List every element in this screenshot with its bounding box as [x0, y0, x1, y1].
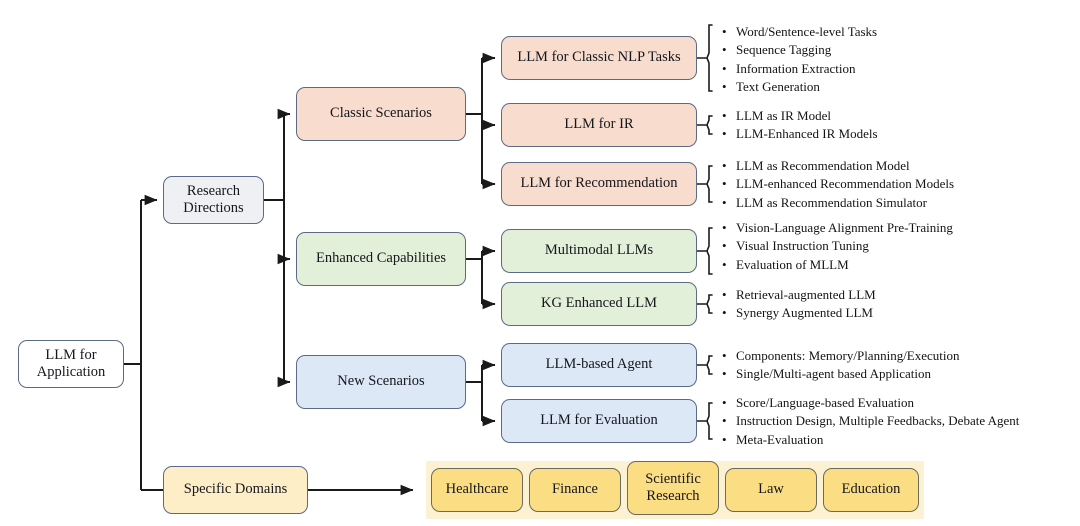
kg-label: KG Enhanced LLM — [541, 295, 657, 312]
bullet-dot-icon: • — [722, 125, 736, 143]
node-research-directions[interactable]: Research Directions — [163, 176, 264, 224]
bullet-dot-icon: • — [722, 41, 736, 59]
list-item: •Sequence Tagging — [722, 41, 877, 59]
research-directions-line1: Research — [187, 183, 240, 199]
multimodal-label: Multimodal LLMs — [545, 242, 653, 259]
list-item: •Meta-Evaluation — [722, 431, 1019, 449]
domain-scientific-research[interactable]: Scientific Research — [627, 461, 719, 515]
enhanced-capabilities-label: Enhanced Capabilities — [316, 250, 446, 267]
bullets-llm-based-agent: •Components: Memory/Planning/Execution •… — [722, 347, 960, 384]
list-item: •Text Generation — [722, 78, 877, 96]
domain-scientific-research-line1: Scientific — [645, 471, 701, 487]
node-llm-for-evaluation[interactable]: LLM for Evaluation — [501, 399, 697, 443]
agent-label: LLM-based Agent — [546, 356, 653, 373]
bullet-dot-icon: • — [722, 304, 736, 322]
node-enhanced-capabilities[interactable]: Enhanced Capabilities — [296, 232, 466, 286]
bullet-dot-icon: • — [722, 194, 736, 212]
bullet-dot-icon: • — [722, 286, 736, 304]
new-scenarios-label: New Scenarios — [337, 373, 424, 390]
bullet-dot-icon: • — [722, 412, 736, 430]
list-item: •LLM-enhanced Recommendation Models — [722, 175, 954, 193]
list-item: •Single/Multi-agent based Application — [722, 365, 960, 383]
bullet-dot-icon: • — [722, 256, 736, 274]
node-kg-enhanced-llm[interactable]: KG Enhanced LLM — [501, 282, 697, 326]
bullets-llm-for-evaluation: •Score/Language-based Evaluation •Instru… — [722, 394, 1019, 449]
domain-healthcare[interactable]: Healthcare — [431, 468, 523, 512]
domain-finance[interactable]: Finance — [529, 468, 621, 512]
bullets-multimodal-llms: •Vision-Language Alignment Pre-Training … — [722, 219, 953, 274]
list-item: •Retrieval-augmented LLM — [722, 286, 876, 304]
bracket-kg — [697, 295, 712, 313]
domain-scientific-research-line2: Research — [646, 488, 699, 504]
bracket-ir — [697, 116, 712, 134]
bullet-dot-icon: • — [722, 175, 736, 193]
bracket-agent — [697, 356, 712, 374]
list-item: •LLM as Recommendation Simulator — [722, 194, 954, 212]
list-item: •Word/Sentence-level Tasks — [722, 23, 877, 41]
bullet-dot-icon: • — [722, 107, 736, 125]
node-llm-for-ir[interactable]: LLM for IR — [501, 103, 697, 147]
bullet-dot-icon: • — [722, 347, 736, 365]
node-new-scenarios[interactable]: New Scenarios — [296, 355, 466, 409]
list-item: •Components: Memory/Planning/Execution — [722, 347, 960, 365]
node-specific-domains[interactable]: Specific Domains — [163, 466, 308, 514]
list-item: •Information Extraction — [722, 60, 877, 78]
classic-scenarios-label: Classic Scenarios — [330, 105, 432, 122]
node-llm-for-application[interactable]: LLM for Application — [18, 340, 124, 388]
bullet-dot-icon: • — [722, 60, 736, 78]
node-llm-for-classic-nlp-tasks[interactable]: LLM for Classic NLP Tasks — [501, 36, 697, 80]
bullet-dot-icon: • — [722, 431, 736, 449]
root-label-line2: Application — [37, 364, 105, 380]
node-llm-based-agent[interactable]: LLM-based Agent — [501, 343, 697, 387]
llm-nlp-label: LLM for Classic NLP Tasks — [517, 49, 680, 66]
node-classic-scenarios[interactable]: Classic Scenarios — [296, 87, 466, 141]
bracket-eval — [697, 403, 712, 439]
specific-domains-label: Specific Domains — [184, 481, 288, 498]
domain-education[interactable]: Education — [823, 468, 919, 512]
bullets-llm-for-classic-nlp-tasks: •Word/Sentence-level Tasks •Sequence Tag… — [722, 23, 877, 97]
list-item: •Instruction Design, Multiple Feedbacks,… — [722, 412, 1019, 430]
domain-finance-label: Finance — [552, 481, 598, 498]
bullets-kg-enhanced-llm: •Retrieval-augmented LLM •Synergy Augmen… — [722, 286, 876, 323]
list-item: •LLM-Enhanced IR Models — [722, 125, 878, 143]
list-item: •Visual Instruction Tuning — [722, 237, 953, 255]
bracket-mm — [697, 228, 712, 274]
bracket-rec — [697, 166, 712, 202]
bullet-dot-icon: • — [722, 219, 736, 237]
list-item: •Synergy Augmented LLM — [722, 304, 876, 322]
bracket-nlp — [697, 25, 712, 91]
bullet-dot-icon: • — [722, 78, 736, 96]
eval-label: LLM for Evaluation — [540, 412, 658, 429]
bullet-dot-icon: • — [722, 23, 736, 41]
domain-healthcare-label: Healthcare — [446, 481, 509, 498]
research-directions-line2: Directions — [183, 200, 243, 216]
domain-law[interactable]: Law — [725, 468, 817, 512]
domain-law-label: Law — [758, 481, 784, 498]
list-item: •Score/Language-based Evaluation — [722, 394, 1019, 412]
bullets-llm-for-ir: •LLM as IR Model •LLM-Enhanced IR Models — [722, 107, 878, 144]
list-item: •LLM as IR Model — [722, 107, 878, 125]
bullet-dot-icon: • — [722, 394, 736, 412]
bullets-llm-for-recommendation: •LLM as Recommendation Model •LLM-enhanc… — [722, 157, 954, 212]
bullet-dot-icon: • — [722, 157, 736, 175]
list-item: •LLM as Recommendation Model — [722, 157, 954, 175]
node-multimodal-llms[interactable]: Multimodal LLMs — [501, 229, 697, 273]
llm-rec-label: LLM for Recommendation — [520, 175, 677, 192]
bullet-dot-icon: • — [722, 237, 736, 255]
node-llm-for-recommendation[interactable]: LLM for Recommendation — [501, 162, 697, 206]
domain-education-label: Education — [842, 481, 901, 498]
root-label-line1: LLM for — [45, 347, 96, 363]
diagram-canvas: LLM for Application Research Directions … — [0, 0, 1080, 526]
bullet-dot-icon: • — [722, 365, 736, 383]
list-item: •Vision-Language Alignment Pre-Training — [722, 219, 953, 237]
list-item: •Evaluation of MLLM — [722, 256, 953, 274]
llm-ir-label: LLM for IR — [564, 116, 633, 133]
